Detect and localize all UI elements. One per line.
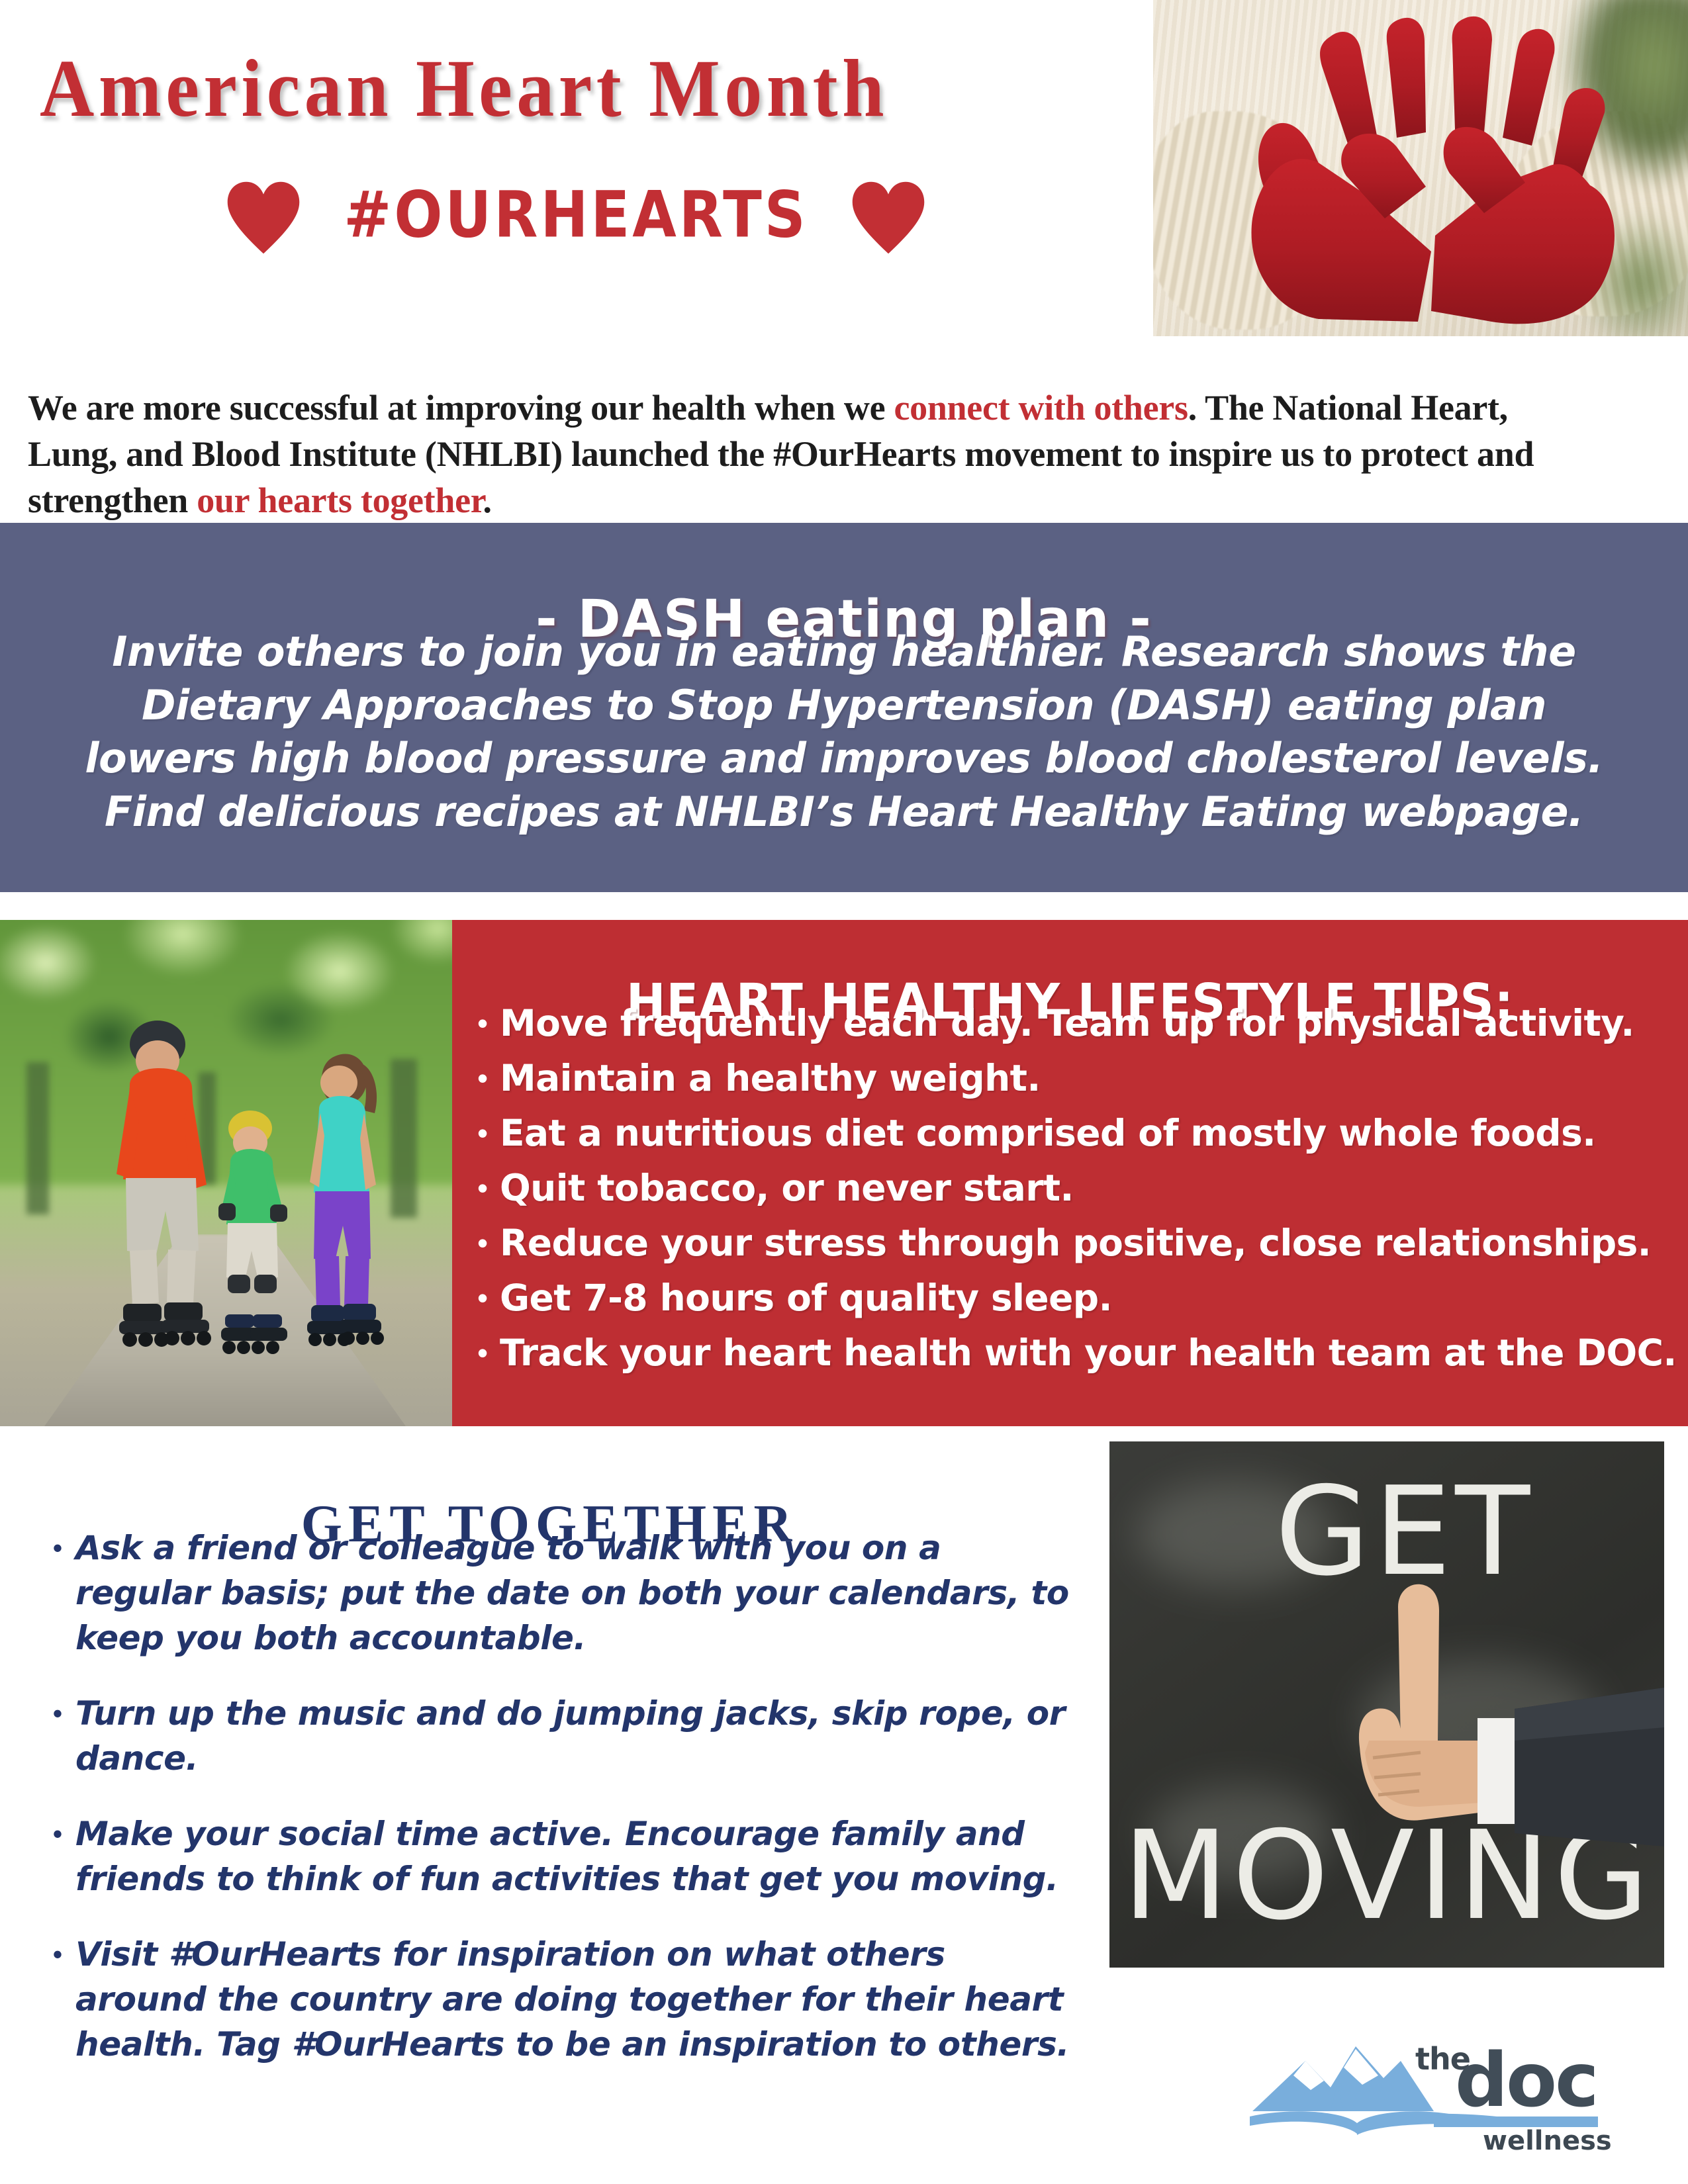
intro-paragraph: We are more successful at improving our …: [28, 385, 1597, 524]
list-item: •Maintain a healthy weight.: [465, 1058, 1677, 1099]
red-mittens-heart-photo: [1153, 0, 1688, 336]
tip-text: Eat a nutritious diet comprised of mostl…: [500, 1113, 1596, 1154]
lifestyle-tips-panel: HEART HEALTHY LIFESTYLE TIPS: •Move freq…: [452, 920, 1688, 1426]
bullet-icon: •: [465, 1058, 500, 1099]
list-item: •Get 7-8 hours of quality sleep.: [465, 1277, 1677, 1318]
tip-text: Move frequently each day. Team up for ph…: [500, 1003, 1634, 1044]
intro-highlight-2: our hearts together: [197, 480, 483, 520]
tip-text: Track your heart health with your health…: [500, 1332, 1677, 1373]
bullet-icon: •: [465, 1003, 500, 1044]
dash-line: Invite others to join you in eating heal…: [40, 625, 1648, 679]
logo-wellness-text: wellness: [1483, 2126, 1612, 2156]
bullet-icon: •: [40, 1525, 75, 1570]
bullet-icon: •: [465, 1222, 500, 1263]
bullet-icon: •: [40, 1932, 75, 1977]
bullet-icon: •: [40, 1811, 75, 1856]
heart-icon: [849, 179, 927, 251]
chalk-line-1: GET: [1275, 1460, 1534, 1603]
bullet-icon: •: [40, 1691, 75, 1736]
list-item: •Make your social time active. Encourage…: [40, 1811, 1086, 1901]
chalkboard-thumbs-up-photo: GET MOVING: [1109, 1441, 1664, 1968]
list-item: •Track your heart health with your healt…: [465, 1332, 1677, 1373]
logo-doc-text: doc: [1455, 2044, 1597, 2118]
title-block: American Heart Month #OURHEARTS: [0, 0, 1155, 331]
bullet-icon: •: [465, 1167, 500, 1208]
get-together-text: Ask a friend or colleague to walk with y…: [75, 1525, 1086, 1661]
tips-list: •Move frequently each day. Team up for p…: [465, 1003, 1677, 1387]
get-together-list: •Ask a friend or colleague to walk with …: [40, 1525, 1086, 2097]
list-item: •Turn up the music and do jumping jacks,…: [40, 1691, 1086, 1781]
dash-line: Find delicious recipes at NHLBI’s Heart …: [40, 786, 1648, 839]
hashtag-label: #OURHEARTS: [344, 178, 808, 252]
lifestyle-tips-row: HEART HEALTHY LIFESTYLE TIPS: •Move freq…: [0, 920, 1688, 1426]
list-item: •Reduce your stress through positive, cl…: [465, 1222, 1677, 1263]
heart-icon: [224, 179, 303, 251]
header-banner: American Heart Month #OURHEARTS: [0, 0, 1688, 339]
tip-text: Reduce your stress through positive, clo…: [500, 1222, 1651, 1263]
dash-eating-plan-section: - DASH eating plan - Invite others to jo…: [0, 523, 1688, 892]
get-together-text: Turn up the music and do jumping jacks, …: [75, 1691, 1086, 1781]
list-item: •Eat a nutritious diet comprised of most…: [465, 1113, 1677, 1154]
intro-highlight-1: connect with others: [894, 388, 1188, 428]
intro-text-1: We are more successful at improving our …: [28, 388, 894, 428]
bullet-icon: •: [465, 1332, 500, 1373]
dash-line: Dietary Approaches to Stop Hypertension …: [40, 679, 1648, 733]
dash-line: lowers high blood pressure and improves …: [40, 732, 1648, 786]
get-together-text: Make your social time active. Encourage …: [75, 1811, 1086, 1901]
dash-section-body: Invite others to join you in eating heal…: [40, 625, 1648, 839]
list-item: •Ask a friend or colleague to walk with …: [40, 1525, 1086, 1661]
get-together-text: Visit #OurHearts for inspiration on what…: [75, 1932, 1086, 2067]
tip-text: Get 7-8 hours of quality sleep.: [500, 1277, 1112, 1318]
tip-text: Quit tobacco, or never start.: [500, 1167, 1074, 1208]
page-title: American Heart Month: [40, 48, 1026, 130]
tip-text: Maintain a healthy weight.: [500, 1058, 1041, 1099]
list-item: •Quit tobacco, or never start.: [465, 1167, 1677, 1208]
intro-text-3: .: [483, 480, 491, 520]
list-item: •Visit #OurHearts for inspiration on wha…: [40, 1932, 1086, 2067]
hashtag-row: #OURHEARTS: [0, 149, 1152, 281]
list-item: •Move frequently each day. Team up for p…: [465, 1003, 1677, 1044]
bullet-icon: •: [465, 1113, 500, 1154]
bullet-icon: •: [465, 1277, 500, 1318]
family-rollerblading-photo: [0, 920, 452, 1426]
doc-wellness-logo: the doc wellness: [1244, 2026, 1615, 2172]
